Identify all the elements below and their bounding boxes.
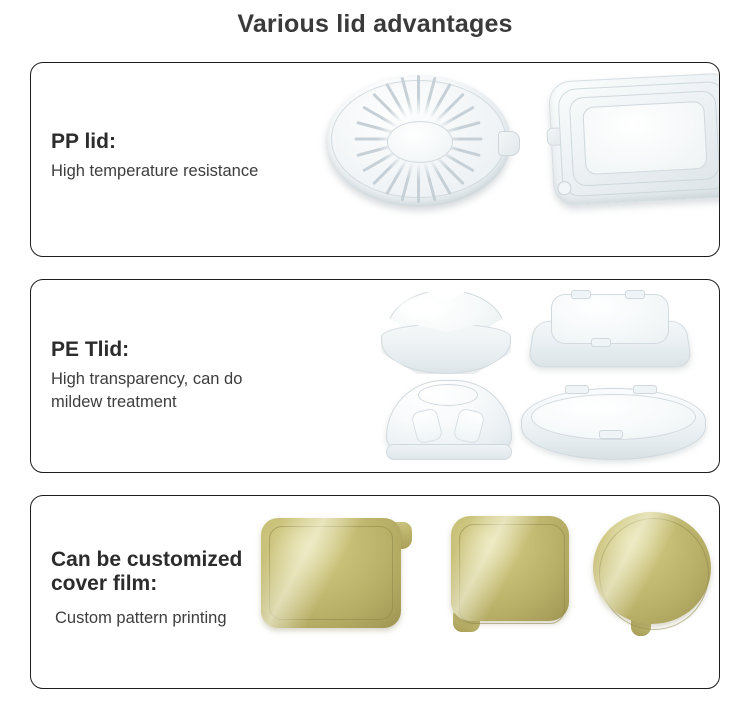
- product-image-heart-shaped-pe-lid: [381, 290, 509, 375]
- square-lid-notch-right: [625, 290, 645, 299]
- oval-lid-notch-right: [633, 385, 657, 394]
- panel-pe-lid: PE Tlid: High transparency, can do milde…: [30, 279, 720, 473]
- page-title: Various lid advantages: [0, 10, 750, 39]
- square-lid-notch-front: [591, 338, 611, 347]
- product-image-round-pp-lid: [326, 75, 511, 207]
- product-image-round-gold-foil-lid: [593, 512, 715, 636]
- product-image-rectangular-pp-lid: [548, 72, 720, 207]
- round-lid-pull-tab: [498, 131, 520, 156]
- panel-pe-heading: PE Tlid:: [51, 338, 242, 362]
- gold-square-emboss-line: [459, 524, 565, 624]
- gold-rect-emboss-line: [269, 526, 393, 620]
- round-lid-center-oval: [387, 121, 453, 163]
- square-lid-notch-left: [571, 290, 591, 299]
- panel-pp-text-block: PP lid: High temperature resistance: [51, 130, 258, 183]
- rect-lid-side-notch: [546, 127, 561, 146]
- panel-gold-text-block: Can be customized cover film: Custom pat…: [51, 548, 242, 631]
- product-image-rectangular-gold-foil-lid: [261, 518, 412, 628]
- panel-pe-text-block: PE Tlid: High transparency, can do milde…: [51, 338, 242, 415]
- oval-lid-notch-left: [565, 385, 589, 394]
- panel-pp-description: High temperature resistance: [51, 160, 258, 184]
- heart-lid-highlight: [399, 298, 443, 318]
- product-image-square-gold-foil-lid: [451, 516, 573, 632]
- panel-pp-heading: PP lid:: [51, 130, 258, 154]
- dome-lid-top-ring: [418, 384, 478, 406]
- panel-gold-heading: Can be customized cover film:: [51, 548, 242, 595]
- gold-round-emboss-line: [599, 518, 709, 630]
- panel-pe-description: High transparency, can do mildew treatme…: [51, 368, 242, 416]
- panel-pp-lid: PP lid: High temperature resistance: [30, 62, 720, 257]
- product-image-oval-pe-lid: [521, 388, 706, 460]
- product-image-dome-cup-pe-lid: [386, 380, 510, 460]
- panel-custom-cover-film: Can be customized cover film: Custom pat…: [30, 495, 720, 689]
- square-lid-top: [551, 294, 669, 344]
- oval-lid-notch-front: [599, 430, 623, 439]
- panel-gold-description: Custom pattern printing: [51, 601, 242, 631]
- rect-lid-ridge-inner: [582, 101, 707, 175]
- dome-lid-lip: [386, 444, 512, 460]
- product-image-square-pe-lid: [531, 294, 687, 368]
